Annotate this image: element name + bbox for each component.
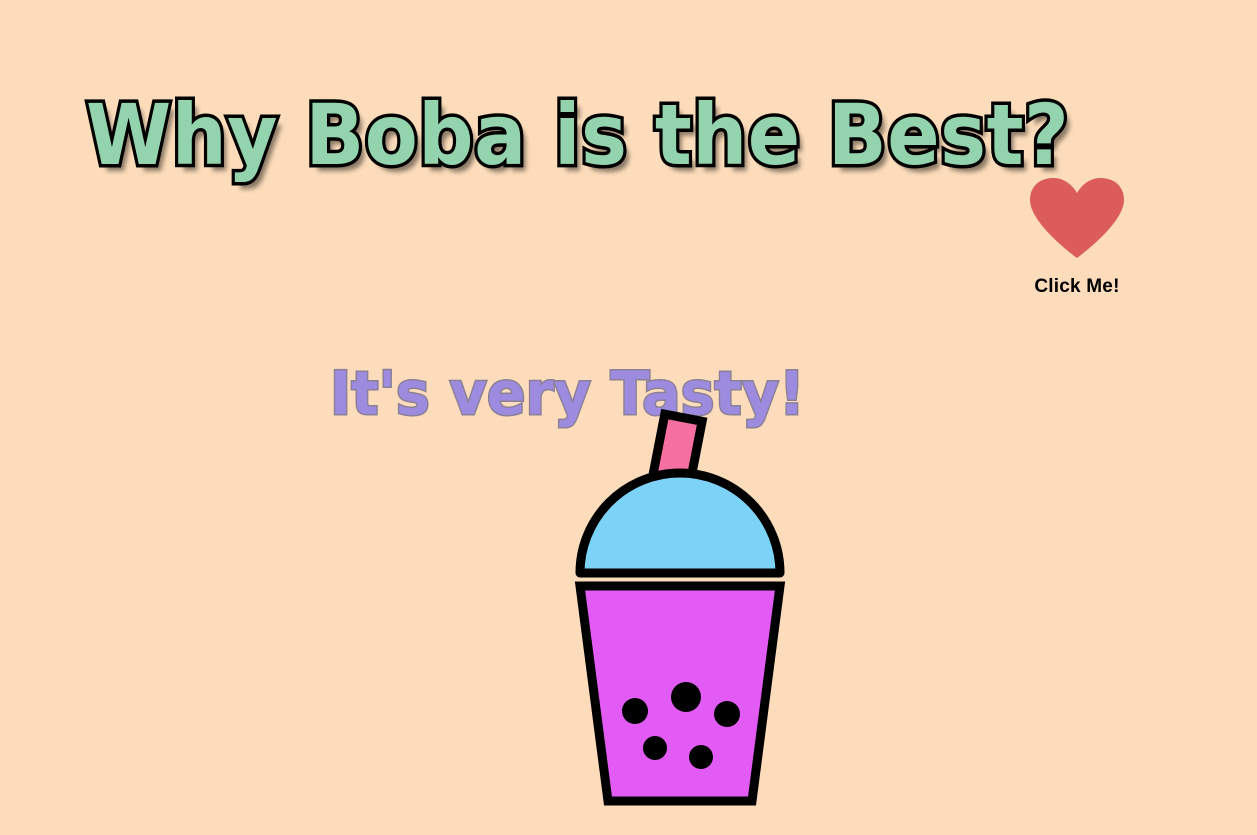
boba-cup-illustration (556, 405, 806, 820)
boba-pearl (622, 698, 648, 724)
boba-pearl (714, 701, 740, 727)
page-root: Why Boba is the Best? It's very Tasty! C… (0, 0, 1257, 835)
page-title: Why Boba is the Best? (86, 80, 822, 190)
boba-pearl (671, 682, 701, 712)
click-me-button[interactable]: Click Me! (1015, 178, 1139, 298)
click-me-label: Click Me! (1015, 276, 1139, 298)
boba-pearl (643, 736, 667, 760)
heart-icon (1030, 178, 1124, 258)
boba-pearl (689, 745, 713, 769)
cup-dome (580, 473, 780, 573)
